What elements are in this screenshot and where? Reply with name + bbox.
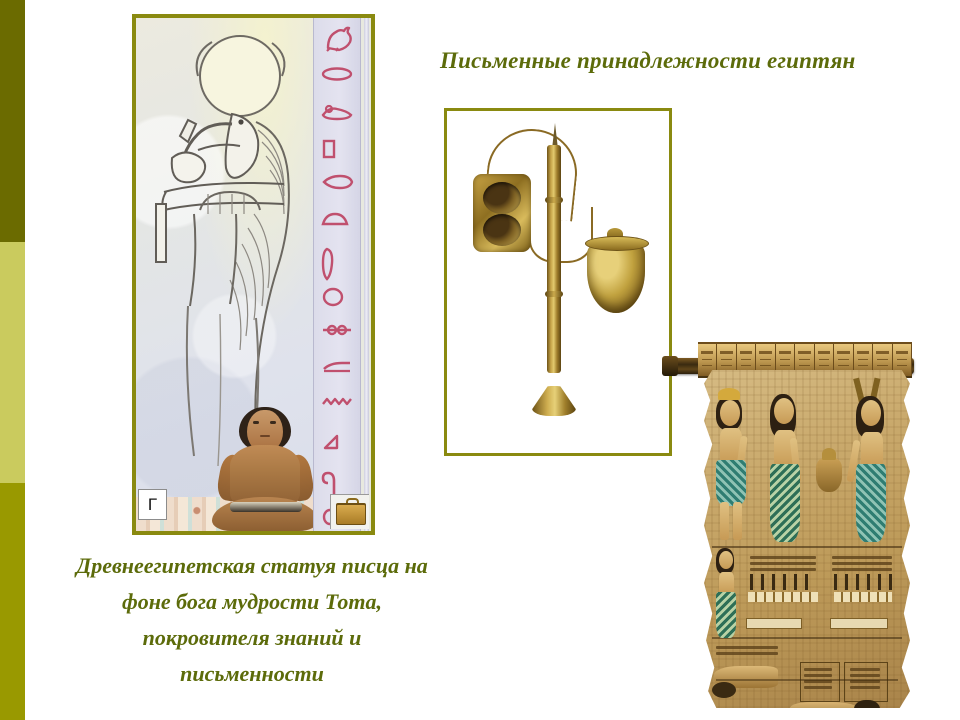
hieroglyph-strip-edge	[364, 18, 369, 531]
figure-head	[719, 551, 733, 569]
caption-line-1: Древнеегипетская статуя писца на	[22, 548, 482, 584]
papyrus-scroll-image	[690, 338, 940, 710]
caption-line-4: письменности	[22, 656, 482, 692]
papyrus-figure-head-dark	[712, 682, 736, 698]
figure-leg-left	[720, 502, 729, 540]
holder-ring-upper	[545, 197, 563, 203]
slide-title: Письменные принадлежности египтян	[440, 48, 940, 74]
gold-case-icon	[330, 494, 369, 529]
scribe-palette	[473, 174, 531, 252]
figure-dress	[856, 464, 886, 542]
hieroglyph-dome-icon	[320, 211, 354, 234]
bar-segment-top	[0, 0, 25, 242]
hieroglyph-bird-icon	[320, 26, 354, 52]
caption-line-3: покровителя знаний и	[22, 620, 482, 656]
scribe-statue	[210, 403, 320, 531]
papyrus-offering-vessel	[816, 458, 842, 492]
figure-torso	[861, 432, 883, 468]
ink-pot	[587, 241, 645, 313]
hieroglyph-triangle-icon	[320, 432, 354, 455]
holder-ring-lower	[545, 291, 563, 297]
papyrus-seated-figures-row-right	[834, 574, 892, 590]
papyrus-shrine-row-right	[834, 592, 892, 602]
hieroglyph-square-icon	[320, 138, 354, 161]
papyrus-seated-figures-row-left	[750, 574, 816, 590]
hieroglyph-ring-icon	[320, 286, 354, 309]
hieroglyph-barbell-icon	[320, 323, 354, 346]
figure-head	[861, 400, 881, 426]
caption-line-2: фоне бога мудрости Тота,	[22, 584, 482, 620]
papyrus-glyph-block-2	[832, 556, 892, 574]
figure-leg-right	[733, 502, 742, 540]
scribe-eye-right	[270, 421, 276, 424]
hieroglyph-column	[313, 18, 361, 531]
figure-head	[720, 400, 740, 426]
papyrus-cartouche-left	[746, 618, 802, 629]
papyrus-cartouche-right	[830, 618, 888, 629]
holder-base	[532, 386, 576, 416]
thoth-and-scribe-image: Г	[132, 14, 375, 535]
papyrus-vessel-lid	[822, 448, 836, 460]
pot-rim	[585, 236, 649, 251]
figure-torso	[719, 572, 734, 594]
papyrus-bottom-line	[716, 679, 897, 681]
papyrus-reclining-figure-right	[790, 702, 860, 708]
hieroglyph-folded-cloth-icon	[320, 359, 354, 382]
reed-pen-holder	[545, 141, 563, 416]
papyrus-shrine-row-left	[748, 592, 818, 602]
hieroglyph-water-icon	[320, 396, 354, 419]
papyrus-glyph-block-5	[716, 646, 778, 658]
papyrus-sheet	[704, 370, 910, 708]
hieroglyph-fish-icon	[320, 174, 354, 197]
hieroglyph-blade-icon	[320, 247, 354, 273]
bar-segment-middle	[0, 242, 25, 483]
holder-shaft	[547, 145, 561, 373]
hieroglyph-loaf-icon	[320, 65, 354, 88]
ink-well-bottom	[483, 214, 521, 246]
papyrus-figure-woman-1	[762, 390, 810, 542]
scribe-mouth	[260, 435, 270, 437]
figure-headdress	[718, 388, 740, 400]
papyrus-figure-small	[712, 546, 746, 638]
figure-dress	[770, 464, 800, 542]
writing-kit-image	[444, 108, 672, 456]
figure-head	[774, 398, 794, 424]
figure-dress	[716, 592, 736, 638]
papyrus-figure-woman-2	[848, 384, 898, 542]
scribe-eye-left	[253, 421, 259, 424]
case-body	[336, 504, 366, 525]
image-caption: Древнеегипетская статуя писца на фоне бо…	[22, 548, 482, 692]
ink-well-top	[483, 182, 521, 214]
scribe-papyrus-roll	[230, 502, 302, 512]
letter-marker-box: Г	[138, 489, 167, 520]
papyrus-figure-god	[710, 388, 754, 540]
papyrus-glyph-block-1	[750, 556, 816, 574]
figure-kilt	[716, 460, 746, 506]
hieroglyph-crook-icon	[320, 469, 354, 495]
scroll-rod-knob	[662, 356, 678, 376]
hieroglyph-reclining-icon	[320, 101, 354, 124]
